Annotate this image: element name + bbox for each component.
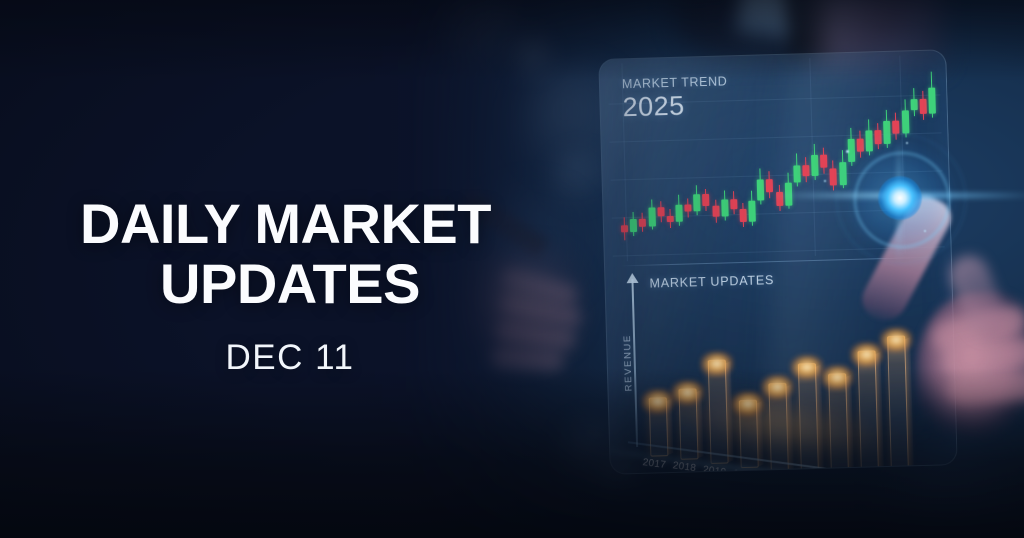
page-title: DAILY MARKET UPDATES bbox=[80, 196, 500, 312]
date-subtitle: DEC 11 bbox=[80, 338, 500, 378]
top-shade-overlay bbox=[0, 0, 1024, 80]
bottom-shade-overlay bbox=[0, 368, 1024, 538]
headline-line-1: DAILY MARKET bbox=[80, 196, 500, 251]
headline-line-2: UPDATES bbox=[80, 256, 500, 311]
banner-image: MARKET TREND 2025 MARKET UPDATES REVENUE… bbox=[0, 0, 1024, 538]
